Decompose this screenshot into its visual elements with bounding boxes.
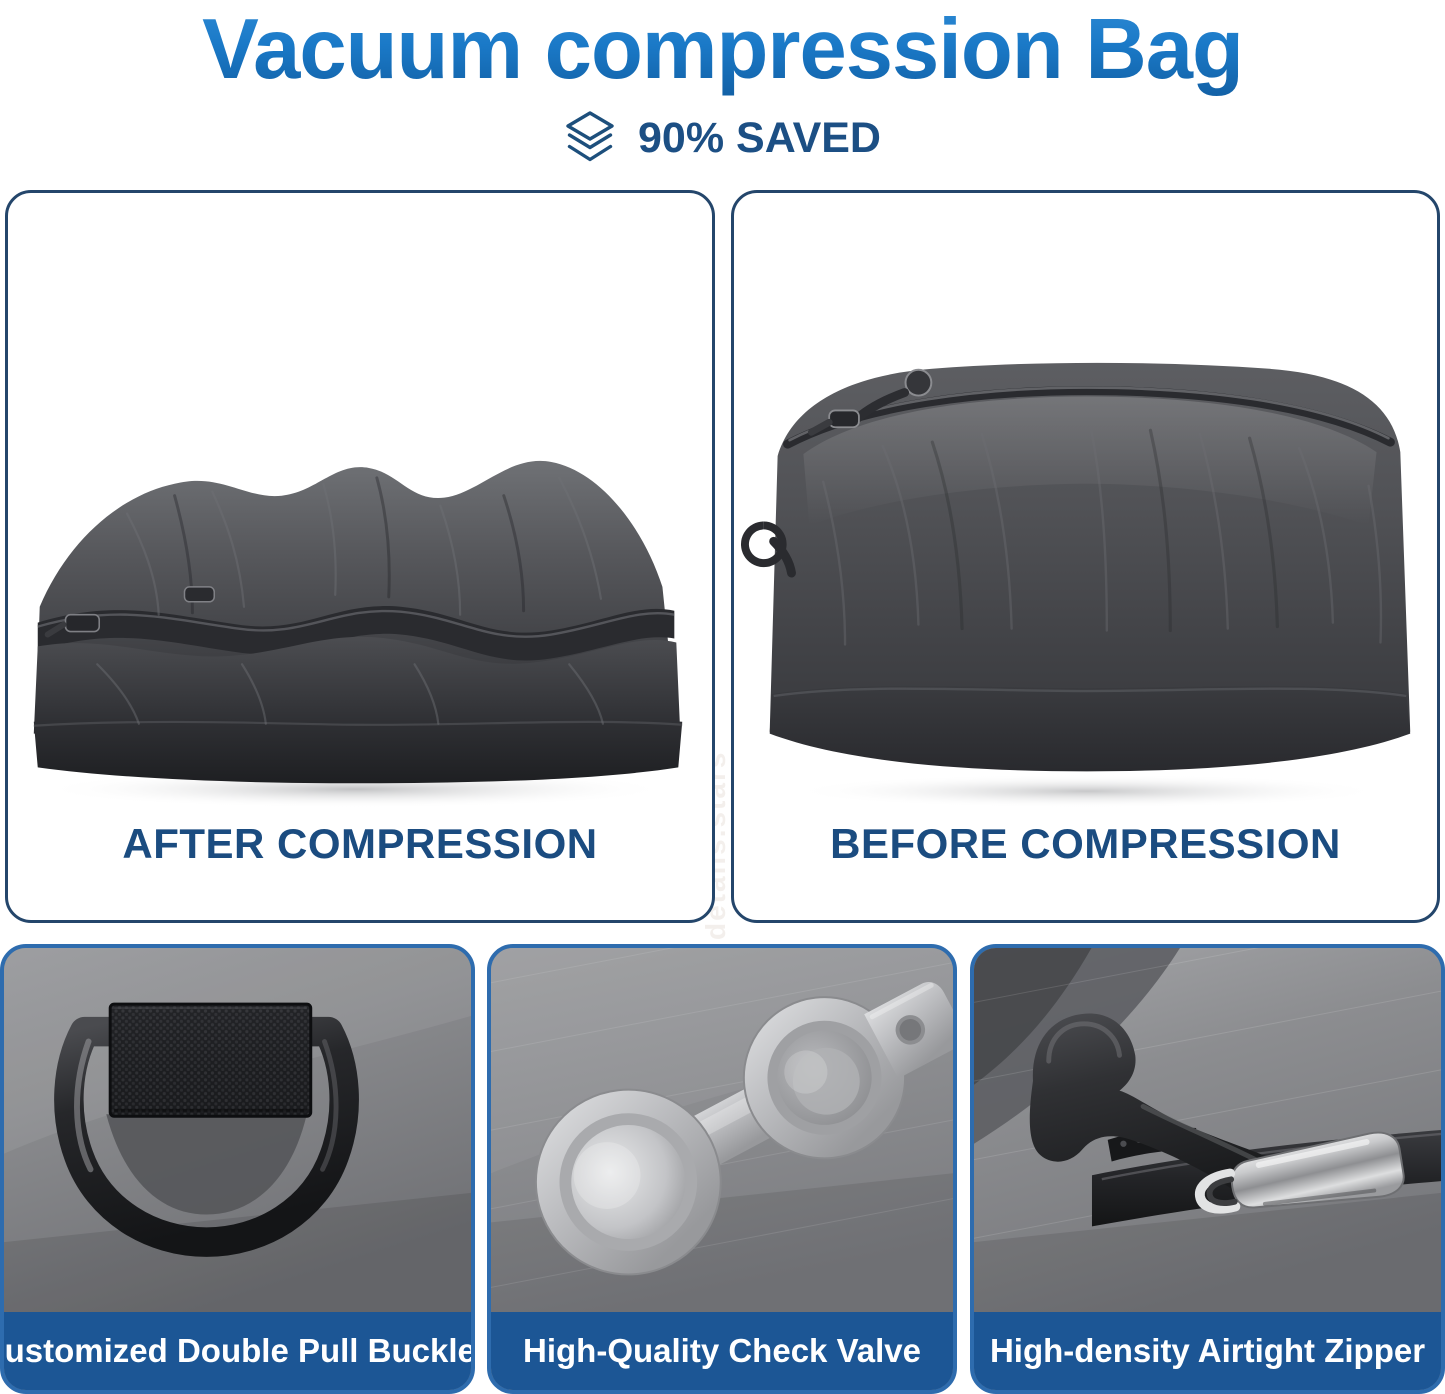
airtight-zipper-image	[974, 948, 1441, 1312]
header: Vacuum compression Bag 90% SAVED	[0, 0, 1445, 186]
d-ring-buckle-image	[4, 948, 471, 1312]
panel-before-compression: BEFORE COMPRESSION	[731, 190, 1440, 923]
feature-caption-zipper: High-density Airtight Zipper	[974, 1312, 1441, 1390]
panel-after-compression: AFTER COMPRESSION	[5, 190, 715, 923]
panel-caption-after: AFTER COMPRESSION	[8, 820, 712, 868]
compressed-bag-image	[8, 193, 712, 813]
page-title: Vacuum compression Bag	[0, 2, 1445, 98]
feature-card-buckles: Customized Double Pull Buckles	[0, 944, 475, 1394]
feature-card-valve: High-Quality Check Valve	[487, 944, 957, 1394]
feature-card-zipper: High-density Airtight Zipper	[970, 944, 1445, 1394]
savings-badge: 90% SAVED	[0, 110, 1445, 166]
feature-caption-buckles: Customized Double Pull Buckles	[4, 1312, 471, 1390]
uncompressed-bag-image	[734, 193, 1437, 813]
panel-caption-before: BEFORE COMPRESSION	[734, 820, 1437, 868]
savings-label: 90% SAVED	[638, 115, 881, 161]
check-valve-image	[491, 948, 953, 1312]
layers-icon	[564, 110, 616, 166]
comparison-row: AFTER COMPRESSION	[0, 190, 1445, 925]
features-row: Customized Double Pull Buckles	[0, 944, 1445, 1394]
feature-caption-valve: High-Quality Check Valve	[491, 1312, 953, 1390]
